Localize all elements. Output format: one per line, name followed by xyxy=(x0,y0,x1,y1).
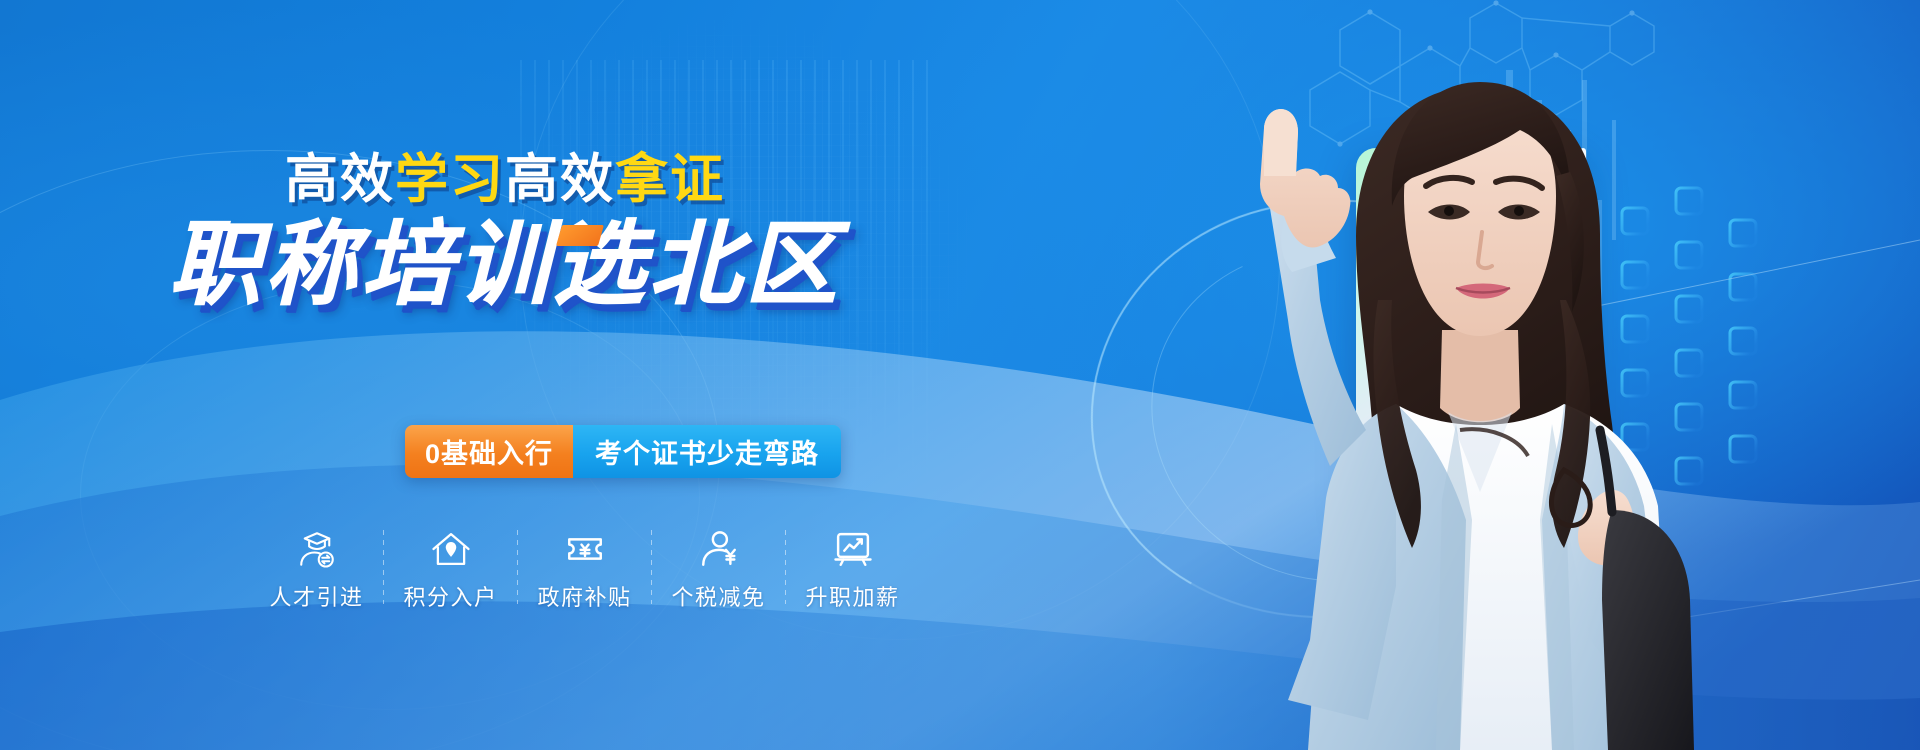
badge-left-label: 0基础入行 xyxy=(405,425,573,478)
feature-item-government-subsidy[interactable]: 政府补贴 xyxy=(518,527,651,612)
tagline-badge[interactable]: 0基础入行 考个证书少走弯路 xyxy=(405,425,841,478)
feature-item-tax-reduction[interactable]: 个税减免 xyxy=(652,527,785,612)
headline-before-accent: 职称培训 xyxy=(169,219,553,311)
feature-divider xyxy=(651,530,652,604)
feature-label: 个税减免 xyxy=(671,580,765,612)
hero-photo-zone xyxy=(1160,0,1920,750)
banner-subtitle: 高效学习高效拿证 xyxy=(0,153,1010,206)
promo-banner: 高效学习高效拿证 职称培训选北区 0基础入行 考个证书少走弯路 xyxy=(0,0,1920,750)
subtitle-part-2-highlight: 学习 xyxy=(395,150,505,209)
house-pin-icon xyxy=(430,527,472,571)
feature-label: 人才引进 xyxy=(269,580,363,612)
subtitle-part-1: 高效 xyxy=(285,150,395,209)
feature-divider xyxy=(785,530,786,604)
coupon-yuan-icon xyxy=(564,527,606,571)
subtitle-part-4-highlight: 拿证 xyxy=(615,150,725,209)
subtitle-part-3: 高效 xyxy=(505,150,615,209)
badge-right-label: 考个证书少走弯路 xyxy=(573,425,841,478)
feature-label: 积分入户 xyxy=(403,580,497,612)
feature-label: 升职加薪 xyxy=(805,580,899,612)
feature-divider xyxy=(383,530,384,604)
graduate-person-icon xyxy=(296,527,338,571)
feature-list: 人才引进 积分入户 xyxy=(250,527,919,617)
presenter-photo xyxy=(1160,0,1920,750)
feature-item-promotion-raise[interactable]: 升职加薪 xyxy=(786,527,919,612)
headline-after-accent: 北区 xyxy=(649,219,841,311)
feature-item-points-residency[interactable]: 积分入户 xyxy=(384,527,517,612)
banner-content: 高效学习高效拿证 职称培训选北区 0基础入行 考个证书少走弯路 xyxy=(0,0,1150,750)
feature-label: 政府补贴 xyxy=(537,580,631,612)
headline-accent-wrap: 选 xyxy=(553,219,649,311)
feature-item-talent-introduction[interactable]: 人才引进 xyxy=(250,527,383,612)
chart-board-icon xyxy=(832,527,874,571)
feature-divider xyxy=(517,530,518,604)
banner-headline: 职称培训选北区 xyxy=(0,219,1010,311)
person-yuan-icon xyxy=(698,527,740,571)
orange-slash-accent-icon xyxy=(556,225,604,246)
